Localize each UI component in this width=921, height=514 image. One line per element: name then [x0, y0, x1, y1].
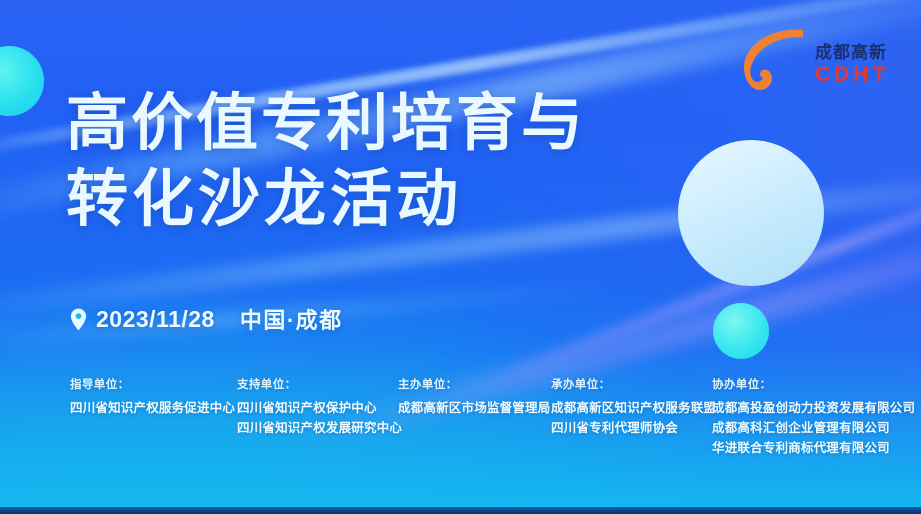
org-label: 主办单位： — [398, 376, 550, 392]
org-label: 支持单位： — [237, 376, 402, 392]
org-item: 成都高新区市场监督管理局 — [398, 398, 550, 418]
decorative-circle-small-cyan — [713, 303, 769, 359]
org-label: 承办单位： — [551, 376, 716, 392]
org-column-organizer: 主办单位： 成都高新区市场监督管理局 — [398, 376, 550, 418]
org-label: 协办单位： — [712, 376, 915, 392]
event-date: 2023/11/28 — [96, 306, 215, 333]
logo-cn-name-text: 成都高新 — [815, 42, 887, 62]
title-line-2: 转化沙龙活动 — [66, 162, 706, 238]
logo-en-name-text: CDHT — [815, 63, 889, 86]
org-item: 四川省知识产权服务促进中心 — [70, 398, 235, 418]
event-location: 中国·成都 — [240, 303, 343, 335]
org-item: 成都高投盈创动力投资发展有限公司 — [712, 398, 915, 418]
org-item: 四川省专利代理师协会 — [551, 418, 716, 438]
org-column-coorganizer: 协办单位： 成都高投盈创动力投资发展有限公司 成都高科汇创企业管理有限公司 华进… — [712, 376, 915, 458]
org-item: 华进联合专利商标代理有限公司 — [712, 438, 915, 458]
cdht-logo: 成都高新 CDHT — [731, 24, 901, 96]
org-item: 四川省知识产权发展研究中心 — [237, 418, 402, 438]
event-date-location: 2023/11/28 中国·成都 — [70, 303, 343, 335]
event-poster: 成都高新 CDHT 高价值专利培育与 转化沙龙活动 2023/11/28 中国·… — [0, 0, 921, 514]
org-label: 指导单位： — [70, 376, 235, 392]
poster-title: 高价值专利培育与 转化沙龙活动 — [66, 86, 706, 238]
org-item: 成都高新区知识产权服务联盟 — [551, 398, 716, 418]
org-column-supporting: 支持单位： 四川省知识产权保护中心 四川省知识产权发展研究中心 — [237, 376, 402, 438]
cdht-swoosh-icon — [744, 30, 803, 90]
bottom-edge-strip — [0, 507, 921, 514]
svg-text:成都高新: 成都高新 — [815, 42, 887, 62]
svg-text:CDHT: CDHT — [815, 63, 889, 86]
location-pin-icon — [70, 308, 87, 331]
org-item: 四川省知识产权保护中心 — [237, 398, 402, 418]
org-column-host: 承办单位： 成都高新区知识产权服务联盟 四川省专利代理师协会 — [551, 376, 716, 438]
org-column-guiding: 指导单位： 四川省知识产权服务促进中心 — [70, 376, 235, 418]
org-item: 成都高科汇创企业管理有限公司 — [712, 418, 915, 438]
title-line-1: 高价值专利培育与 — [66, 86, 706, 162]
organization-list: 指导单位： 四川省知识产权服务促进中心 支持单位： 四川省知识产权保护中心 四川… — [0, 376, 921, 496]
